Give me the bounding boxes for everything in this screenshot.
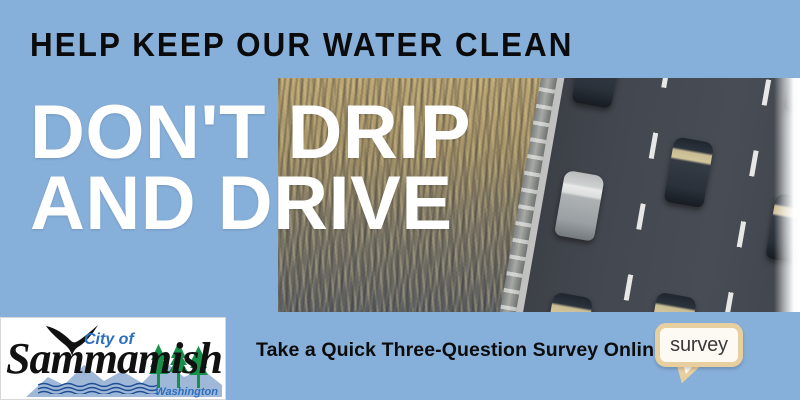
logo-city-of-label: City of	[84, 331, 134, 349]
poster-canvas: HELP KEEP OUR WATER CLEAN DON'T DRIP AND…	[0, 0, 800, 400]
photo-right-fade	[774, 78, 800, 312]
logo-state-label: Washington	[155, 386, 218, 398]
car	[554, 170, 605, 242]
speech-bubble[interactable]: survey	[655, 323, 743, 367]
highway-road	[501, 78, 800, 312]
page-title: DON'T DRIP AND DRIVE	[30, 98, 471, 239]
city-of-sammamish-logo: Sammamish City of Washington	[0, 317, 226, 400]
car	[646, 292, 697, 312]
survey-badge[interactable]: survey	[655, 323, 751, 385]
survey-cta-text: Take a Quick Three-Question Survey Onlin…	[256, 339, 665, 362]
car	[571, 78, 622, 109]
car	[543, 292, 594, 312]
lane-marking	[704, 78, 784, 312]
car	[663, 136, 714, 208]
kicker-headline: HELP KEEP OUR WATER CLEAN	[30, 26, 573, 64]
survey-label: survey	[670, 335, 728, 355]
